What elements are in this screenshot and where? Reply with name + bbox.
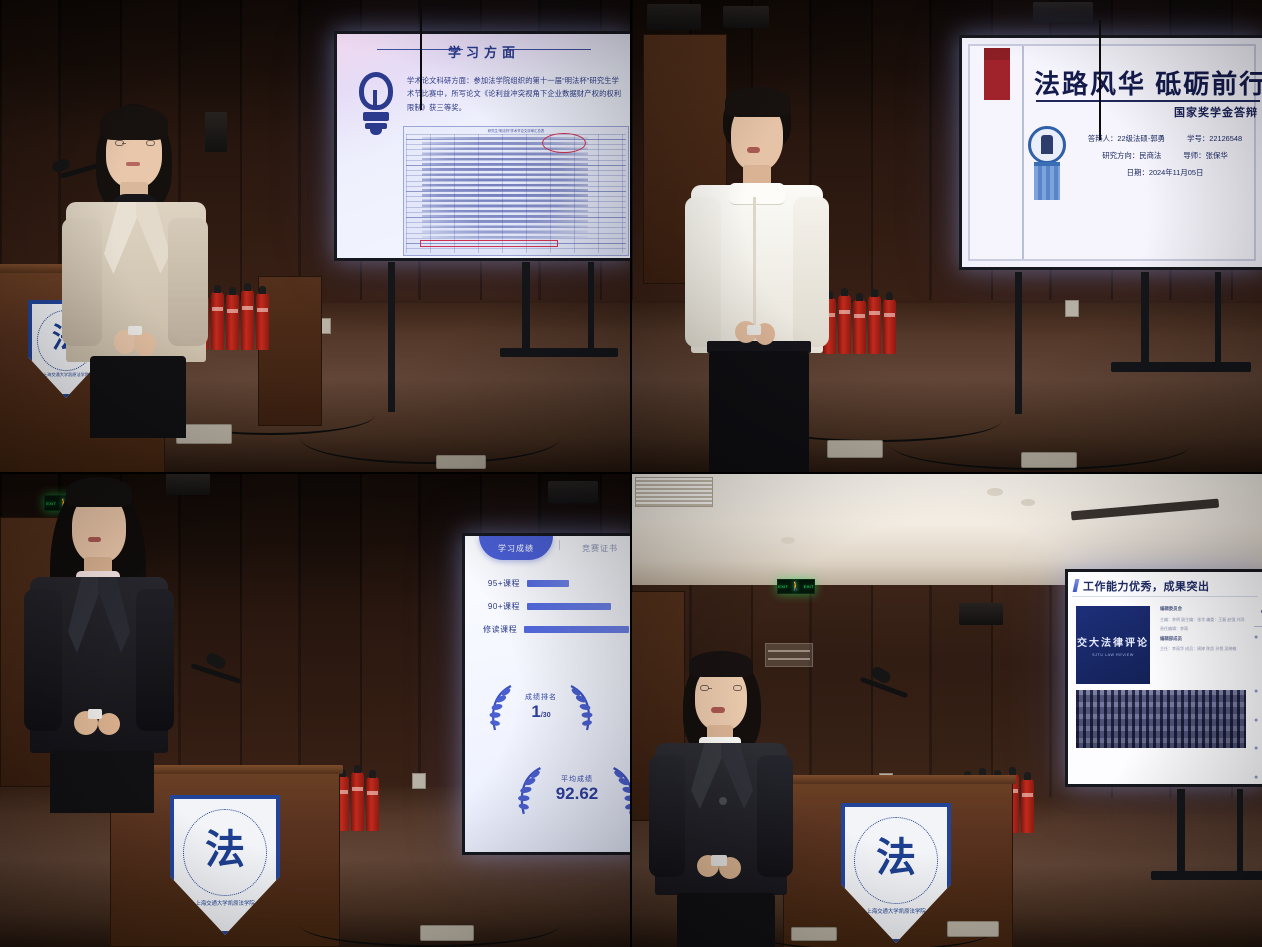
trousers (50, 751, 154, 813)
slide4-title: 工作能力优秀，成果突出 (1083, 578, 1210, 594)
arm-right (136, 589, 174, 731)
rank-title: 成绩排名 (513, 692, 569, 702)
jacket-button (719, 797, 727, 805)
masthead-label-2: 责任编辑：李萌 (1160, 624, 1246, 634)
presentation-clicker (88, 709, 102, 719)
running-man-icon: 🚶 (790, 582, 801, 591)
slide2-title: 法路风华 砥砺前行 (1034, 64, 1260, 101)
rank-laurel-badge: 成绩排名 1/30 (487, 678, 595, 736)
average-title: 平均成绩 (543, 774, 611, 784)
fire-extinguisher (868, 296, 881, 354)
screen-tripod-stand (500, 262, 620, 372)
floor-junction-box (947, 921, 999, 937)
bar-row: 95+课程 (475, 578, 629, 589)
fire-extinguisher (883, 299, 896, 354)
slide-工作能力: 工作能力优秀，成果突出 交大法律评论 SJTU LAW REVIEW 编辑委员会… (1068, 572, 1262, 784)
arm-left (24, 589, 62, 731)
laurel-wreath-icon (569, 684, 595, 734)
bullet-list: ●作为审稿 ●完成 ●组织 ●组织 ●定期 ●曾任生命 ●经选体现表现 (1254, 632, 1262, 784)
slide-学习方面: 学习方面 学术论文科研方面：参加法学院组织的第十一届“明法杯”研究生学术节比赛中… (337, 34, 631, 258)
hair-fringe (66, 477, 132, 507)
fire-extinguisher (1021, 779, 1034, 833)
ceiling-cable (1099, 20, 1101, 140)
header-rule (1072, 596, 1258, 597)
bar-total (524, 626, 629, 633)
fire-extinguisher (366, 777, 379, 831)
slide-学习成绩: 学习成绩 竞赛证书 95+课程 90+课程 (465, 536, 631, 852)
projection-screen-1: 学习方面 学术论文科研方面：参加法学院组织的第十一届“明法杯”研究生学术节比赛中… (334, 31, 631, 261)
laurel-wreath-icon (611, 766, 631, 818)
slide3-tab-bar: 学习成绩 竞赛证书 (465, 536, 631, 562)
trousers (677, 893, 775, 947)
table-highlight-row (420, 240, 558, 247)
journal-masthead-text: 编辑委员会 主编：李明 副主编：张华 编委：王磊 赵强 刘洋 责任编辑：李萌 编… (1160, 604, 1246, 654)
photo-collage: 学习方面 学术论文科研方面：参加法学院组织的第十一届“明法杯”研究生学术节比赛中… (0, 0, 1262, 947)
trousers (709, 351, 809, 473)
exit-sign: EXIT 🚶 EXIT (777, 579, 815, 594)
projection-screen-3: 学习成绩 竞赛证书 95+课程 90+课程 (462, 533, 631, 855)
list-item: ●组织 (1254, 743, 1262, 769)
panel-bottom-left: EXIT 🚶 EXIT 学习成绩 竞赛证书 (0, 473, 631, 947)
crest-glyph: 法 (170, 817, 280, 875)
grades-bar-chart: 95+课程 90+课程 修读课程 (475, 578, 629, 647)
rank-value-group: 成绩排名 1/30 (513, 692, 569, 722)
wall-speaker (959, 603, 1003, 625)
arm-right (168, 218, 208, 346)
mouth (711, 707, 725, 713)
floor-junction-box (420, 925, 474, 941)
floor-cable (300, 412, 560, 464)
average-laurel-badge: 平均成绩 92.62 (515, 758, 631, 820)
presenter-3 (20, 473, 200, 813)
list-item: ●完成 (1254, 686, 1262, 712)
ceiling-downlight (1021, 499, 1035, 506)
panel-bottom-right: EXIT 🚶 EXIT 工作能力优秀，成果突出 交大法律评论 (631, 473, 1262, 947)
screen-support-left (382, 262, 412, 422)
floor-junction-box (1021, 452, 1077, 468)
group-photo (1076, 690, 1246, 748)
ceiling-speaker (548, 481, 598, 503)
bar-label-95: 95+课程 (475, 578, 527, 589)
laurel-wreath-icon (515, 766, 543, 818)
fire-extinguisher (351, 772, 364, 831)
masthead-names-3: 主任：李丽华 成员：周婷 陈凯 孙悦 吴晓敏 (1160, 644, 1246, 654)
slide-title: 法路风华 砥砺前行 国家奖学金答辩 答辩人：22级法硕-郭勇 学号：221265… (962, 38, 1262, 267)
arm-left (62, 218, 102, 346)
accent-mark-icon (1073, 579, 1080, 592)
screen-tripod-stand (1151, 789, 1262, 899)
journal-cover-image: 交大法律评论 SJTU LAW REVIEW (1076, 606, 1150, 684)
arm-left (685, 197, 721, 347)
slide2-metadata: 答辩人：22级法硕-郭勇 学号：22126548 研究方向：民商法 导师：张保华… (1074, 130, 1256, 181)
presenter-1 (58, 98, 243, 438)
rank-total: /30 (541, 712, 551, 719)
shirt-collar (729, 183, 785, 205)
tab-学习成绩[interactable]: 学习成绩 (479, 536, 553, 560)
slide4-right-column: 《交 ●作为审稿 ●完成 ●组织 ●组织 ●定期 ●曾任生命 ●经选体现表现 (1254, 602, 1262, 784)
journal-subtitle: SJTU LAW REVIEW (1092, 653, 1134, 657)
list-item: ●组织 (1254, 715, 1262, 741)
wall-plate (412, 773, 426, 789)
presenter-2 (673, 85, 863, 473)
presentation-clicker (747, 325, 761, 335)
bar-row: 90+课程 (475, 601, 629, 612)
panel-divider-horizontal (0, 472, 1262, 474)
table-caption: 研究生“明法杯”学术节论文评审汇总表 (404, 128, 628, 133)
red-accent-bar-cap (984, 48, 1010, 60)
student-id-label: 学号：22126548 (1187, 130, 1242, 147)
right-title-rule (1254, 626, 1262, 627)
bar-row: 修读课程 (475, 624, 629, 635)
journal-title: 交大法律评论 (1077, 634, 1149, 649)
mouth (126, 162, 140, 166)
glasses (113, 140, 157, 149)
mouth (88, 537, 101, 542)
tab-竞赛证书[interactable]: 竞赛证书 (563, 536, 631, 560)
lightbulb-icon (353, 72, 399, 134)
exit-sign-text: EXIT (778, 584, 788, 589)
crest-glyph: 法 (841, 825, 951, 883)
presenter-4 (649, 651, 819, 947)
masthead-names-1: 主编：李明 副主编：张华 编委：王磊 赵强 刘洋 (1160, 615, 1246, 625)
list-item: ●定期 (1254, 772, 1262, 785)
floor-junction-box (436, 455, 486, 469)
arm-right (793, 197, 829, 347)
projection-screen-2: 法路风华 砥砺前行 国家奖学金答辩 答辩人：22级法硕-郭勇 学号：221265… (959, 35, 1262, 270)
date-label: 日期：2024年11月05日 (1127, 164, 1204, 181)
masthead-label-3: 编辑部成员 (1160, 636, 1182, 641)
presentation-clicker (128, 326, 142, 335)
arm-right (757, 755, 793, 877)
advisor-label: 导师：张保华 (1183, 147, 1227, 164)
table-highlight-circle (542, 133, 586, 153)
bar-label-90: 90+课程 (475, 601, 527, 612)
trousers (90, 356, 186, 438)
right-title: 《交 (1254, 602, 1262, 622)
projection-screen-4: 工作能力优秀，成果突出 交大法律评论 SJTU LAW REVIEW 编辑委员会… (1065, 569, 1262, 787)
vertical-divider (1022, 46, 1024, 259)
hair-fringe (689, 651, 753, 677)
panel-top-left: 学习方面 学术论文科研方面：参加法学院组织的第十一届“明法杯”研究生学术节比赛中… (0, 0, 631, 473)
rank-value: 1/30 (513, 702, 569, 722)
presentation-clicker (711, 855, 727, 866)
slide1-body-text: 学术论文科研方面：参加法学院组织的第十一届“明法杯”研究生学术节比赛中，所写论文… (407, 74, 625, 114)
justice-pillar-icon (1028, 126, 1066, 200)
bar-90 (527, 603, 611, 610)
hand-right (134, 332, 156, 356)
mouth (747, 147, 760, 153)
ceiling-speaker (647, 4, 701, 30)
ceiling-downlight (781, 537, 795, 544)
laurel-wreath-icon (487, 684, 513, 734)
title-underline (1036, 100, 1260, 102)
hair-fringe (100, 106, 168, 140)
exit-sign-text: EXIT (804, 584, 814, 589)
average-value-group: 平均成绩 92.62 (543, 774, 611, 804)
arm-left (649, 755, 685, 877)
slide2-subtitle: 国家奖学金答辩 (1036, 104, 1258, 120)
ceiling-downlight (987, 488, 1003, 496)
bar-95 (527, 580, 569, 587)
list-item: ●作为审稿 (1254, 632, 1262, 683)
slide1-table-image: 研究生“明法杯”学术节论文评审汇总表 (403, 126, 629, 256)
masthead-label-1: 编辑委员会 (1160, 606, 1182, 611)
average-value: 92.62 (543, 784, 611, 804)
hair-fringe (725, 87, 791, 117)
ceiling-cable (420, 0, 422, 110)
bar-label-total: 修读课程 (475, 624, 524, 635)
slide1-title: 学习方面 (337, 42, 631, 61)
slide4-header: 工作能力优秀，成果突出 (1074, 577, 1258, 594)
ceiling-speaker (1033, 2, 1093, 22)
research-label: 研究方向：民商法 (1102, 147, 1161, 164)
panel-top-right: 法路风华 砥砺前行 国家奖学金答辩 答辩人：22级法硕-郭勇 学号：221265… (631, 0, 1262, 473)
glasses (699, 685, 743, 694)
ceiling-vent (635, 477, 713, 507)
ceiling-speaker (723, 6, 769, 28)
fire-extinguisher (256, 293, 269, 350)
